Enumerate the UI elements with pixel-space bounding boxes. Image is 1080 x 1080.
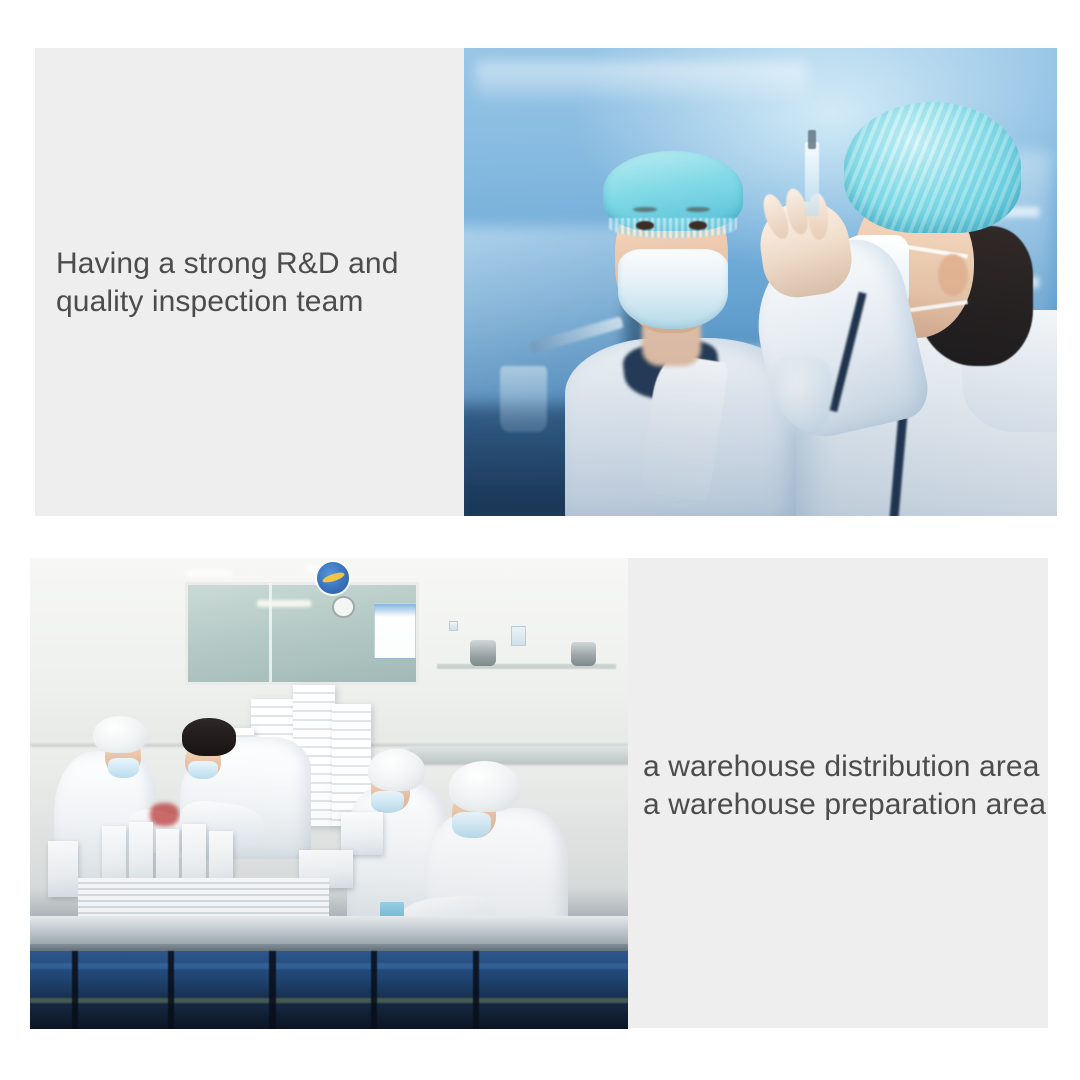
technician-right-hairnet — [844, 102, 1022, 233]
table-leg-4 — [371, 951, 378, 1029]
technician-left-eye-right — [689, 221, 707, 229]
technician-left-eyebrow-left — [633, 207, 657, 212]
rnd-caption-line-1: Having a strong R&D and — [56, 245, 398, 283]
technician-left-hairnet — [603, 151, 742, 231]
back-counter — [407, 746, 628, 765]
technician-left-face-mask — [618, 249, 728, 329]
table-rail-2 — [30, 998, 628, 1003]
table-leg-1 — [72, 951, 79, 1029]
technician-left-eye-left — [636, 221, 654, 229]
worker-1-hairnet — [93, 716, 147, 754]
shelf-box-2 — [449, 621, 458, 631]
worker-2-face-mask — [188, 761, 218, 780]
technician-right-ear — [938, 254, 968, 296]
technician-left-eyebrow-right — [686, 207, 710, 212]
warehouse-text-panel: a warehouse distribution area a warehous… — [628, 558, 1048, 1028]
table-leg-5 — [473, 951, 480, 1029]
warehouse-packing-photo — [30, 558, 628, 1029]
warehouse-caption-line-2: a warehouse preparation area — [643, 786, 1046, 824]
worker-1-face-mask — [108, 758, 139, 778]
rnd-caption: Having a strong R&D and quality inspecti… — [56, 245, 398, 322]
worker-4-hairnet — [449, 761, 521, 813]
worker-3-face-mask — [371, 791, 404, 813]
blue-circular-sign-icon — [317, 562, 349, 594]
lab-qc-photo — [464, 48, 1057, 516]
rnd-caption-line-2: quality inspection team — [56, 283, 398, 321]
wall-notice-board — [374, 603, 416, 660]
rnd-text-panel: Having a strong R&D and quality inspecti… — [35, 48, 465, 516]
vial-tip — [808, 130, 816, 149]
worker-4-face-mask — [452, 812, 491, 837]
shelf-box-1 — [511, 626, 525, 646]
worker-2-red-object — [150, 803, 180, 827]
slide-canvas: Having a strong R&D and quality inspecti… — [0, 0, 1080, 1080]
worker-2-hair-cap — [182, 718, 236, 756]
table-carton-6 — [341, 812, 383, 854]
worker-3-hairnet — [368, 749, 425, 791]
table-leg-3 — [269, 951, 276, 1029]
glass-flask — [772, 357, 831, 437]
table-carton-8 — [48, 841, 78, 898]
beaker — [500, 366, 547, 432]
steel-container-2 — [571, 642, 596, 666]
warehouse-caption: a warehouse distribution area a warehous… — [643, 748, 1046, 825]
steel-container-1 — [470, 640, 496, 666]
ceiling-light-1 — [185, 570, 233, 578]
lab-background-shelf — [476, 62, 808, 99]
window-interior-lamp — [257, 600, 311, 607]
warehouse-caption-line-1: a warehouse distribution area — [643, 748, 1046, 786]
window-mullion — [269, 583, 272, 682]
table-rail-1 — [30, 963, 628, 969]
wall-clock-icon — [332, 596, 355, 618]
stainless-table-top — [30, 916, 628, 947]
glass-vial — [805, 142, 819, 217]
table-leg-2 — [168, 951, 175, 1029]
